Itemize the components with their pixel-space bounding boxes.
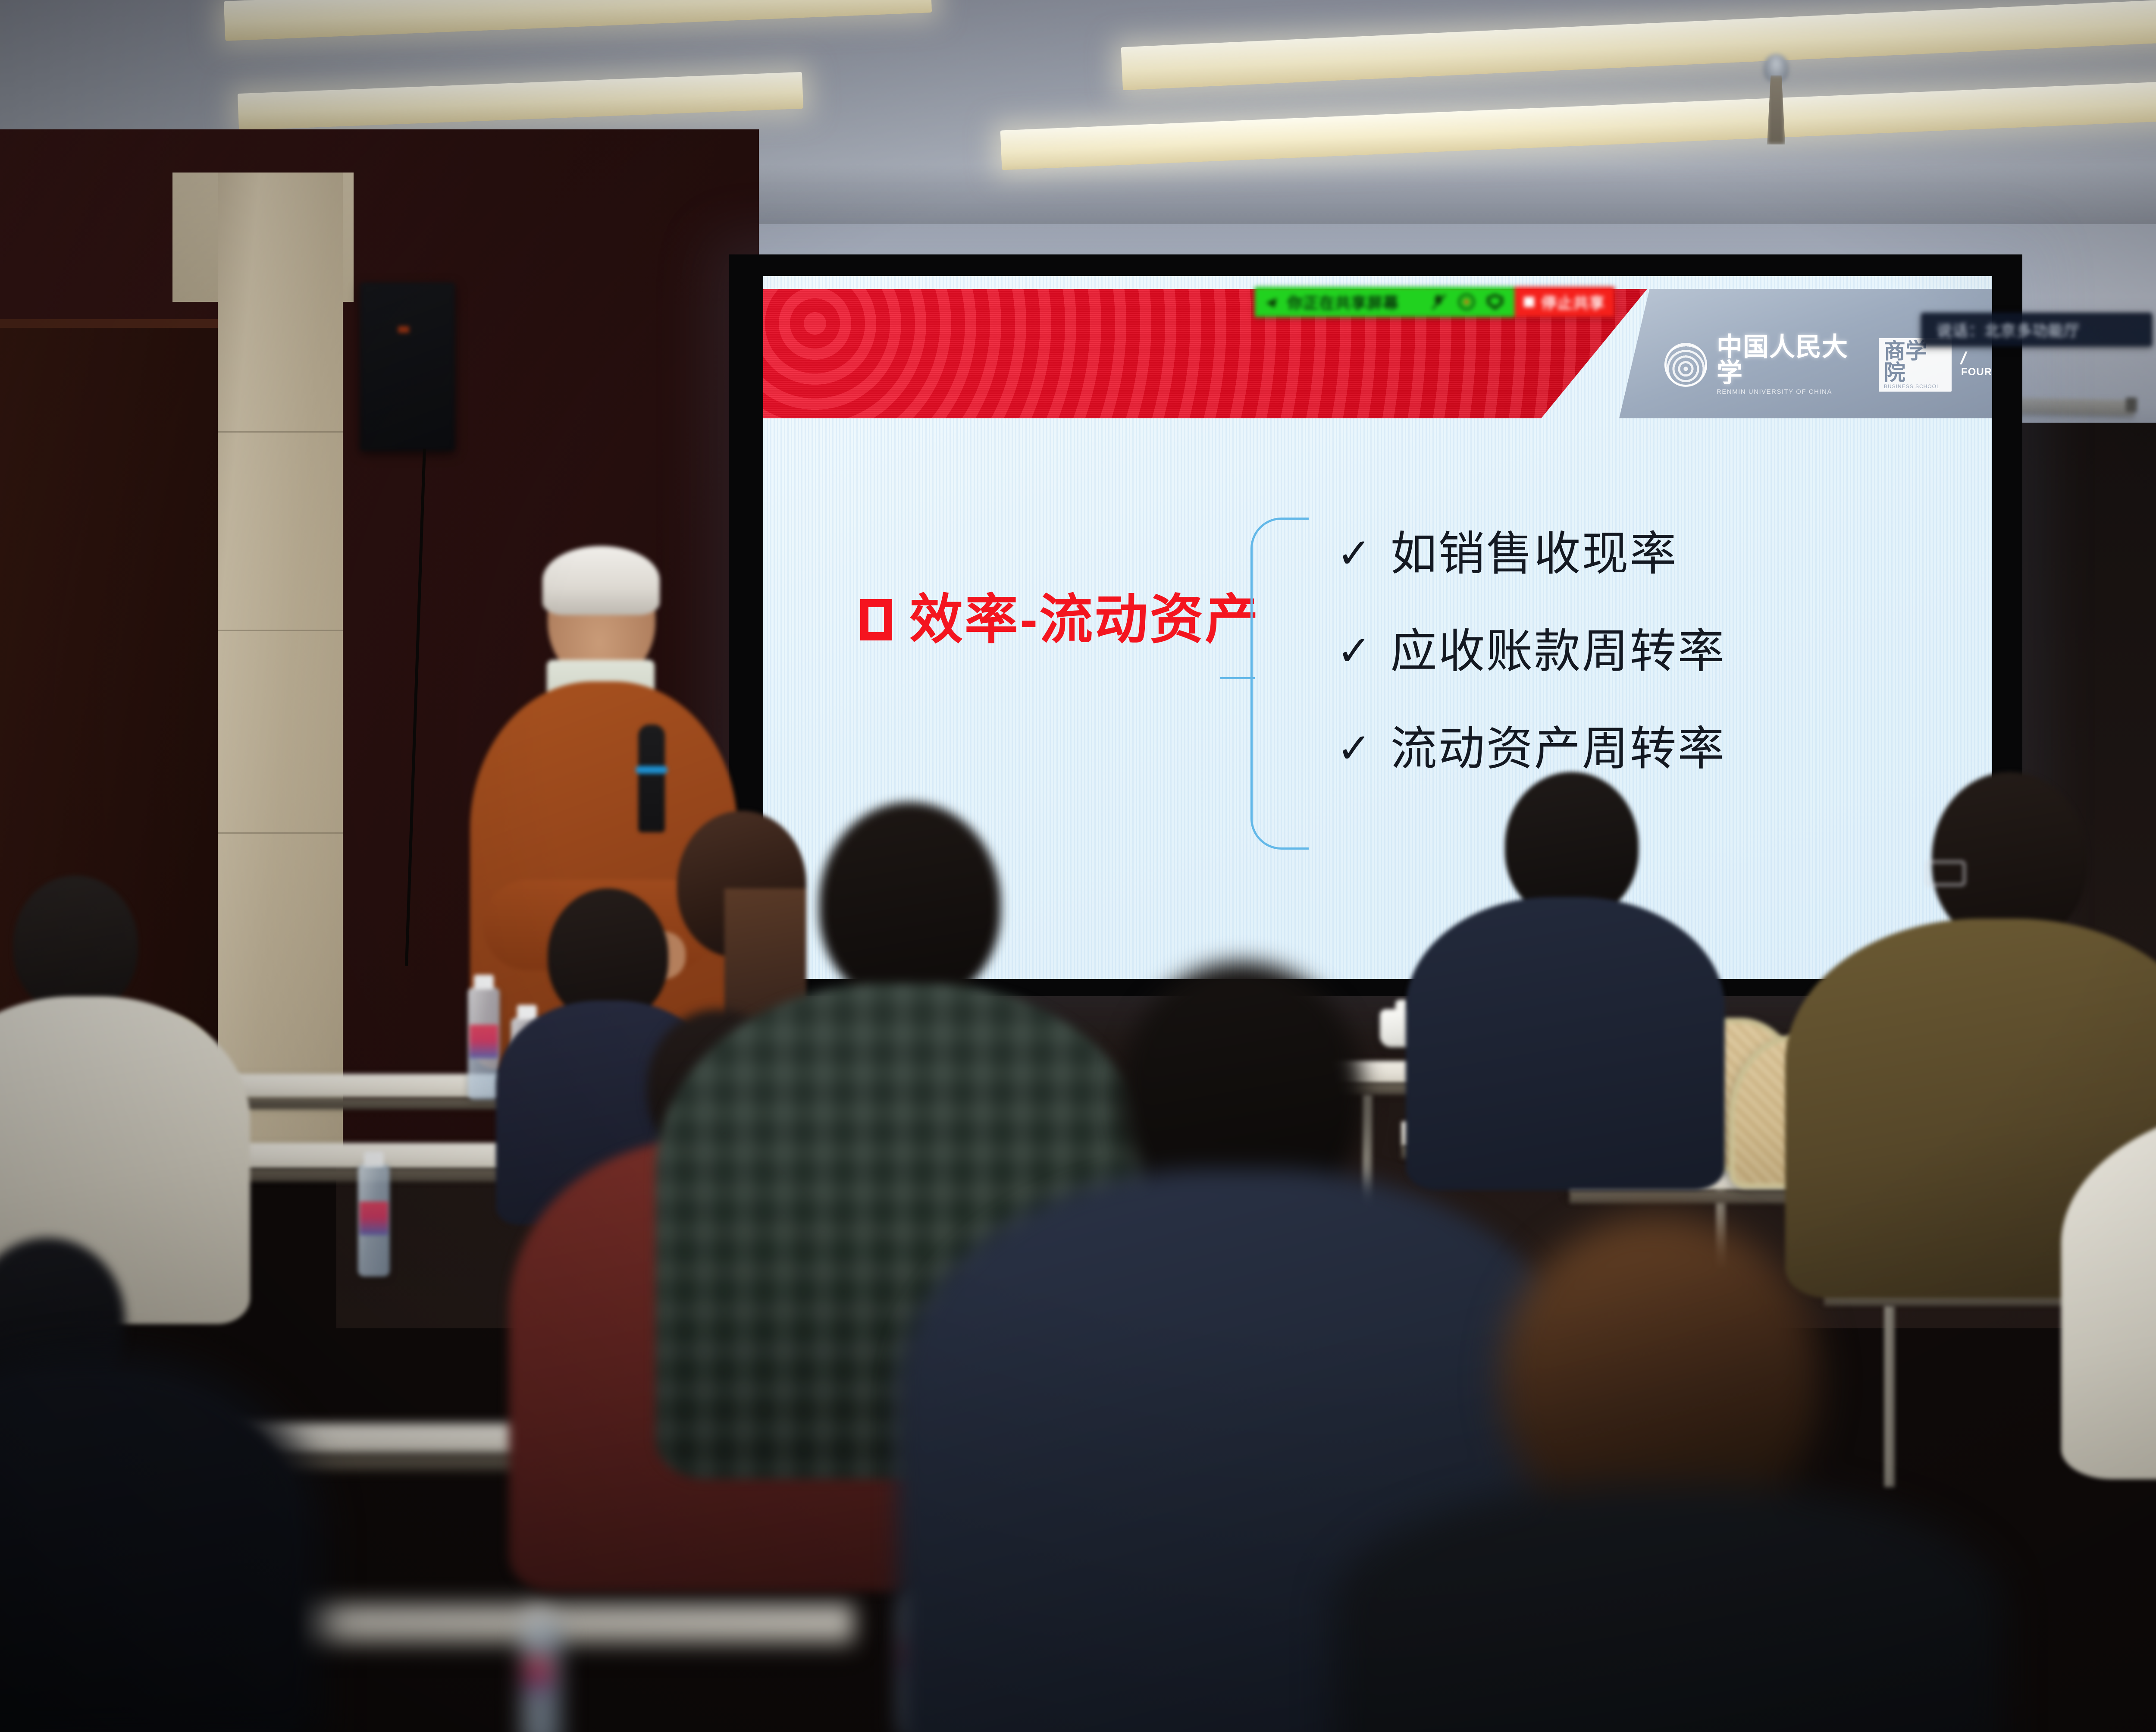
bullet-label: 流动资产周转率 bbox=[1390, 725, 1725, 772]
school-name-en: BUSINESS SCHOOL bbox=[1884, 383, 1946, 389]
shield-icon[interactable] bbox=[1487, 294, 1503, 310]
list-item: ✓ 流动资产周转率 bbox=[1337, 725, 1725, 772]
audience-member bbox=[0, 1354, 323, 1732]
stop-share-button[interactable]: 停止共享 bbox=[1514, 287, 1614, 317]
curly-brace-stem bbox=[1220, 677, 1255, 679]
slide-title-text: 效率-流动资产 bbox=[909, 593, 1260, 646]
water-bottle bbox=[522, 1622, 561, 1732]
audience-member bbox=[1419, 772, 1712, 1160]
record-icon[interactable] bbox=[1458, 294, 1475, 310]
university-name: 中国人民大学 bbox=[1717, 334, 1869, 386]
list-item: ✓ 如销售收现率 bbox=[1337, 530, 1725, 577]
slide-bullet-list: ✓ 如销售收现率 ✓ 应收账款周转率 ✓ 流动资产周转率 bbox=[1337, 530, 1725, 772]
share-status-label: 你正在共享屏幕 bbox=[1287, 291, 1399, 313]
person-torso bbox=[1332, 1484, 2005, 1732]
list-item: ✓ 应收账款周转率 bbox=[1337, 628, 1725, 675]
school-name: 商学院 bbox=[1884, 340, 1946, 383]
table-row bbox=[285, 1604, 854, 1643]
lecture-hall-photo: 中国人民大学 RENMIN UNIVERSITY OF CHINA 商学院 BU… bbox=[0, 0, 2156, 1732]
wall-speaker-left bbox=[360, 282, 455, 451]
zoom-flag-icon: ◀ bbox=[1264, 295, 1278, 310]
speaking-toast: 说话：北京多功能厅 bbox=[1921, 313, 2152, 346]
check-icon: ✓ bbox=[1337, 533, 1371, 574]
screen-share-toolbar[interactable]: ◀ 你正在共享屏幕 停止共享 bbox=[1255, 287, 1614, 317]
stop-square-icon bbox=[1524, 297, 1534, 307]
bullet-label: 如销售收现率 bbox=[1390, 530, 1677, 577]
curly-brace-icon bbox=[1250, 518, 1309, 850]
university-name-en: RENMIN UNIVERSITY OF CHINA bbox=[1717, 388, 1869, 395]
ruc-seal-icon bbox=[1664, 343, 1707, 387]
presenter-hair bbox=[542, 546, 660, 615]
person-torso bbox=[1406, 897, 1725, 1190]
mic-muted-icon[interactable] bbox=[1430, 294, 1446, 310]
stop-share-label: 停止共享 bbox=[1541, 291, 1605, 313]
person-head bbox=[13, 875, 138, 1013]
square-bullet-icon bbox=[860, 599, 892, 640]
glasses-icon bbox=[1925, 860, 1966, 886]
four-logo-mark: / bbox=[1959, 351, 1992, 365]
person-torso bbox=[0, 1354, 323, 1732]
water-bottle bbox=[468, 988, 500, 1100]
check-icon: ✓ bbox=[1337, 728, 1371, 769]
partner-logo: / FOUR bbox=[1961, 351, 1992, 378]
bullet-label: 应收账款周转率 bbox=[1390, 628, 1725, 675]
water-bottle bbox=[358, 1164, 390, 1277]
person-head bbox=[1505, 772, 1639, 919]
audience-member bbox=[2100, 798, 2156, 1423]
share-status-group: ◀ 你正在共享屏幕 bbox=[1255, 287, 1514, 317]
check-icon: ✓ bbox=[1337, 631, 1371, 672]
slide-title: 效率-流动资产 bbox=[860, 593, 1260, 646]
speaking-toast-text: 说话：北京多功能厅 bbox=[1937, 318, 2080, 341]
partner-name: FOUR bbox=[1961, 366, 1992, 378]
